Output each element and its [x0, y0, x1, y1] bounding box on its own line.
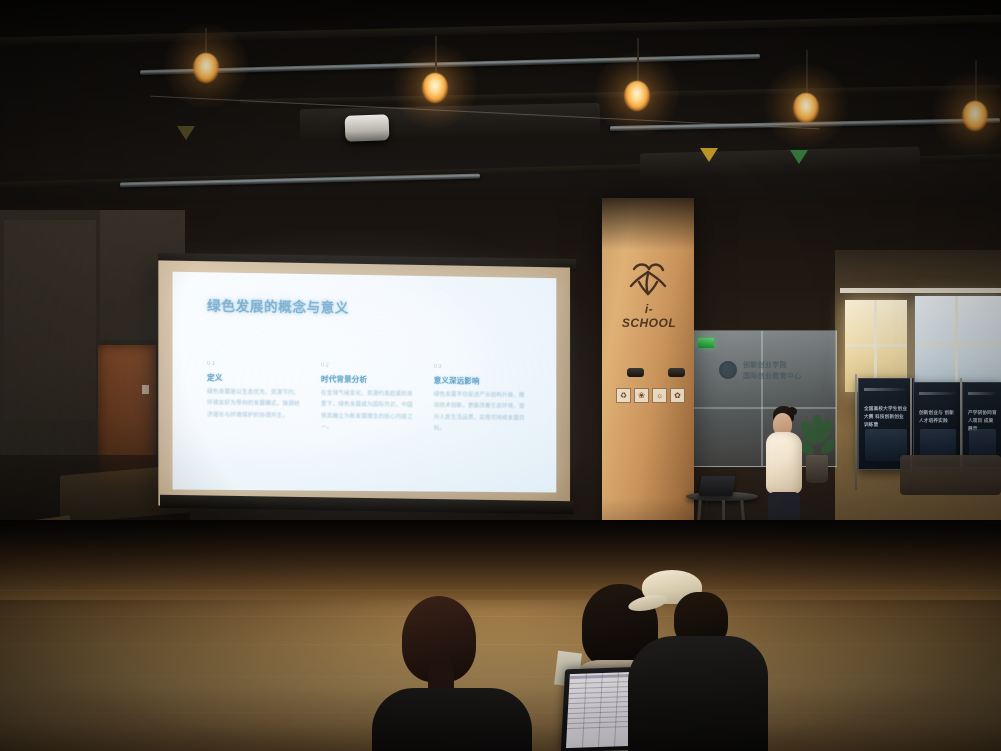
- bulb-cord-3: [637, 38, 639, 86]
- spreadsheet-col-3: [614, 672, 619, 746]
- institution-signage: 创新创业学院 国际创业教育中心: [743, 361, 801, 382]
- column-1-number: 01: [207, 361, 304, 368]
- pennant-green: [790, 150, 808, 164]
- audience-left-torso: [372, 688, 532, 751]
- spreadsheet-col-1: [582, 674, 587, 748]
- door-plate-icon: [142, 385, 149, 394]
- poster-1-accent: [864, 388, 908, 391]
- bulb-cord-2: [435, 36, 437, 78]
- ceiling-bulb-1: [193, 53, 219, 83]
- poster-2-accent: [919, 392, 957, 395]
- window-mullion-h2: [915, 342, 1001, 345]
- slide-column-1: 01 定义 绿色发展是以生态优先、资源节约、环境友好为导向的发展模式，强调经济增…: [207, 361, 304, 434]
- presenter-laptop[interactable]: [698, 476, 735, 496]
- cap-brim: [627, 592, 669, 614]
- window-mullion-v2: [955, 296, 958, 396]
- exit-sign: [698, 338, 714, 348]
- column-2-body: 在全球气候变化、资源约束趋紧的背景下，绿色发展成为国际共识，中国将其确立为新发展…: [321, 388, 417, 435]
- window-head-trim: [840, 288, 1001, 293]
- poster-2-title: 创新创业与 创新人才培养实践: [919, 409, 957, 425]
- pennant-yellow: [700, 148, 718, 162]
- ceiling-projector: [345, 114, 390, 142]
- institution-logo: [719, 361, 737, 379]
- ceiling-bulb-3: [624, 81, 650, 111]
- phoenix-icon: [624, 260, 672, 302]
- audience-laptop-screen: [566, 672, 635, 748]
- slide-column-2: 02 时代背景分析 在全球气候变化、资源约束趋紧的背景下，绿色发展成为国际共识，…: [321, 362, 417, 435]
- poster-1-title: 全国高校大学生创业大赛 科技创新创业训练营: [864, 405, 908, 428]
- bulb-cord-4: [806, 50, 808, 98]
- ceiling-bulb-2: [422, 73, 448, 103]
- poster-3-accent: [968, 392, 997, 395]
- ceiling-bulb-4: [793, 93, 819, 123]
- column-3-body: 绿色发展不仅促进产业结构升级、推动技术创新，更能改善生态环境、提升人民生活品质，…: [434, 390, 529, 437]
- pillar-icon-1: ♻: [616, 388, 631, 403]
- window-mullion-h1: [845, 344, 907, 347]
- ceiling-pipe-1: [140, 54, 760, 75]
- column-3-heading: 意义深远影响: [434, 375, 529, 387]
- column-2-heading: 时代背景分析: [321, 373, 417, 385]
- pillar-icon-row: ♻ ❀ ☼ ✿: [616, 388, 685, 403]
- audience-member-left: [372, 596, 532, 751]
- signage-line-2: 国际创业教育中心: [743, 372, 801, 383]
- slide-content: 绿色发展的概念与意义 01 定义 绿色发展是以生态优先、资源节约、环境友好为导向…: [173, 272, 557, 493]
- track-spotlight-2: [668, 368, 685, 377]
- i-school-bird-logo-icon: [624, 260, 672, 302]
- column-1-heading: 定义: [207, 372, 304, 384]
- projection-screen: 绿色发展的概念与意义 01 定义 绿色发展是以生态优先、资源节约、环境友好为导向…: [158, 260, 570, 508]
- left-wall-panel-1: [4, 220, 96, 420]
- slide-column-3: 03 意义深远影响 绿色发展不仅促进产业结构升级、推动技术创新，更能改善生态环境…: [434, 364, 529, 437]
- poster-stand-1: [855, 374, 857, 490]
- window-right: [915, 296, 1001, 396]
- column-3-number: 03: [434, 364, 529, 371]
- pillar-icon-2: ❀: [634, 388, 649, 403]
- audience-right-torso: [628, 636, 768, 751]
- presenter-blouse: [766, 432, 802, 494]
- pillar-icon-4: ✿: [670, 388, 685, 403]
- column-2-number: 02: [321, 362, 417, 369]
- ceiling-bulb-5: [962, 101, 988, 131]
- presentation-room-photo: 全国高校大学生创业大赛 科技创新创业训练营 创新创业与 创新人才培养实践 产学研…: [0, 0, 1001, 751]
- slide-title: 绿色发展的概念与意义: [207, 294, 349, 316]
- spreadsheet-col-2: [598, 673, 603, 747]
- pillar-icon-3: ☼: [652, 388, 667, 403]
- audience-member-right-cap: [628, 570, 768, 751]
- signage-line-1: 创新创业学院: [743, 361, 801, 372]
- ceiling-duct-2: [640, 147, 921, 178]
- pillar-brand-text: i-SCHOOL: [618, 302, 680, 330]
- column-1-body: 绿色发展是以生态优先、资源节约、环境友好为导向的发展模式，强调经济增长与环境保护…: [207, 387, 304, 423]
- bulb-cord-5: [975, 60, 977, 104]
- pennant-olive: [177, 126, 195, 140]
- track-spotlight-1: [627, 368, 644, 377]
- pillar-top-shadow: [602, 198, 694, 250]
- slide-columns: 01 定义 绿色发展是以生态优先、资源节约、环境友好为导向的发展模式，强调经济增…: [207, 361, 529, 437]
- ceiling-beam-3: [240, 85, 1000, 106]
- right-bench: [900, 455, 1001, 495]
